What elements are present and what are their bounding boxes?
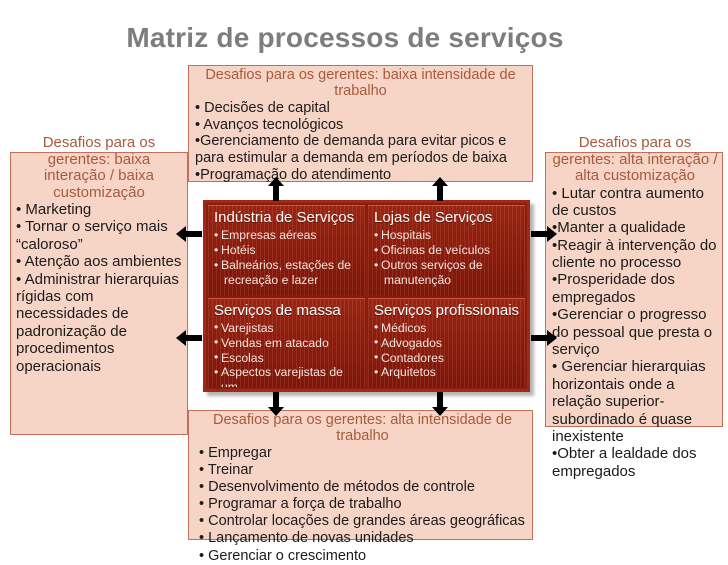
list-item: • Empregar [199,445,526,462]
callout-heading: Desafios para os gerentes: alta intensid… [199,413,526,445]
list-item: Vendas em atacado [214,336,361,351]
list-item: •Reagir à intervenção do cliente no proc… [552,237,718,272]
list-item: • Administrar hierarquias rígidas com ne… [16,271,182,375]
callout-list: • Decisões de capital • Avanços tecnológ… [195,100,526,184]
list-item: • Avanços tecnológicos [195,117,526,134]
list-item: Médicos [374,321,521,336]
service-process-matrix: Indústria de Serviços Empresas aéreas Ho… [203,200,530,392]
matrix-quadrant-servicos-profissionais: Serviços profissionais Médicos Advogados… [368,298,525,388]
list-item: •Obter a lealdade dos empregados [552,445,718,480]
arrow-left-bottom-icon [176,330,202,346]
list-item: Varejistas [214,321,361,336]
matrix-quadrant-servicos-de-massa: Serviços de massa Varejistas Vendas em a… [208,298,365,388]
callout-high-interaction-high-customization: Desafios para os gerentes: alta interaçã… [545,152,723,427]
callout-list: • Empregar • Treinar • Desenvolvimento d… [199,445,526,565]
quadrant-title: Serviços profissionais [374,302,521,319]
arrow-down-right-icon [432,392,448,416]
matrix-quadrant-industria-de-servicos: Indústria de Serviços Empresas aéreas Ho… [208,205,365,295]
list-item: Contadores [374,351,521,366]
arrow-left-top-icon [176,226,202,242]
list-item: Aspectos varejistas de umbanco comercial [214,365,361,387]
quadrant-list: Varejistas Vendas em atacado Escolas Asp… [214,321,361,387]
list-item: Advogados [374,336,521,351]
list-item: • Atenção aos ambientes [16,253,182,270]
list-item: • Marketing [16,201,182,218]
list-item: •Prosperidade dos empregados [552,271,718,306]
list-item: • Treinar [199,462,526,479]
list-item: Hotéis [214,243,361,258]
arrow-right-bottom-icon [531,330,557,346]
quadrant-list: Médicos Advogados Contadores Arquitetos [374,321,521,381]
list-item: • Desenvolvimento de métodos de controle [199,479,526,496]
callout-high-labor-intensity: Desafios para os gerentes: alta intensid… [188,410,533,540]
list-item: Outros serviços demanutenção [374,258,521,288]
callout-low-labor-intensity: Desafios para os gerentes: baixa intensi… [188,65,533,182]
list-item: • Gerenciar o crescimento [199,548,526,565]
quadrant-title: Indústria de Serviços [214,209,361,226]
list-item: •Programação do atendimento [195,167,526,184]
list-item: • Tornar o serviço mais “caloroso” [16,218,182,253]
list-item: • Gerenciar hierarquias horizontais onde… [552,358,718,445]
arrow-up-right-icon [432,177,448,201]
list-item: Arquitetos [374,365,521,380]
list-item: •Gerenciar o progresso do pessoal que pr… [552,306,718,358]
list-item: Oficinas de veículos [374,243,521,258]
list-item: • Programar a força de trabalho [199,496,526,513]
list-item: Empresas aéreas [214,228,361,243]
list-item: •Gerenciamento de demanda para evitar pi… [195,133,526,166]
arrow-right-top-icon [531,226,557,242]
list-item: • Decisões de capital [195,100,526,117]
callout-list: • Lutar contra aumento de custos •Manter… [552,185,718,481]
list-item: Escolas [214,351,361,366]
callout-low-interaction-low-customization: Desafios para os gerentes: baixa interaç… [10,152,188,435]
list-item: • Controlar locações de grandes áreas ge… [199,513,526,530]
list-item: • Lançamento de novas unidades [199,530,526,547]
callout-heading: Desafios para os gerentes: baixa intensi… [195,68,526,100]
list-item: Balneários, estações derecreação e lazer [214,258,361,288]
list-item: Hospitais [374,228,521,243]
quadrant-list: Empresas aéreas Hotéis Balneários, estaç… [214,228,361,288]
callout-heading: Desafios para os gerentes: baixa interaç… [16,135,182,201]
page-title: Matriz de processos de serviços [0,22,690,54]
list-item: • Lutar contra aumento de custos [552,185,718,220]
arrow-up-left-icon [268,177,284,201]
callout-list: • Marketing • Tornar o serviço mais “cal… [16,201,182,375]
quadrant-title: Serviços de massa [214,302,361,319]
quadrant-list: Hospitais Oficinas de veículos Outros se… [374,228,521,288]
quadrant-title: Lojas de Serviços [374,209,521,226]
callout-heading: Desafios para os gerentes: alta interaçã… [552,135,718,185]
list-item: •Manter a qualidade [552,219,718,236]
arrow-down-left-icon [268,392,284,416]
matrix-quadrant-lojas-de-servicos: Lojas de Serviços Hospitais Oficinas de … [368,205,525,295]
